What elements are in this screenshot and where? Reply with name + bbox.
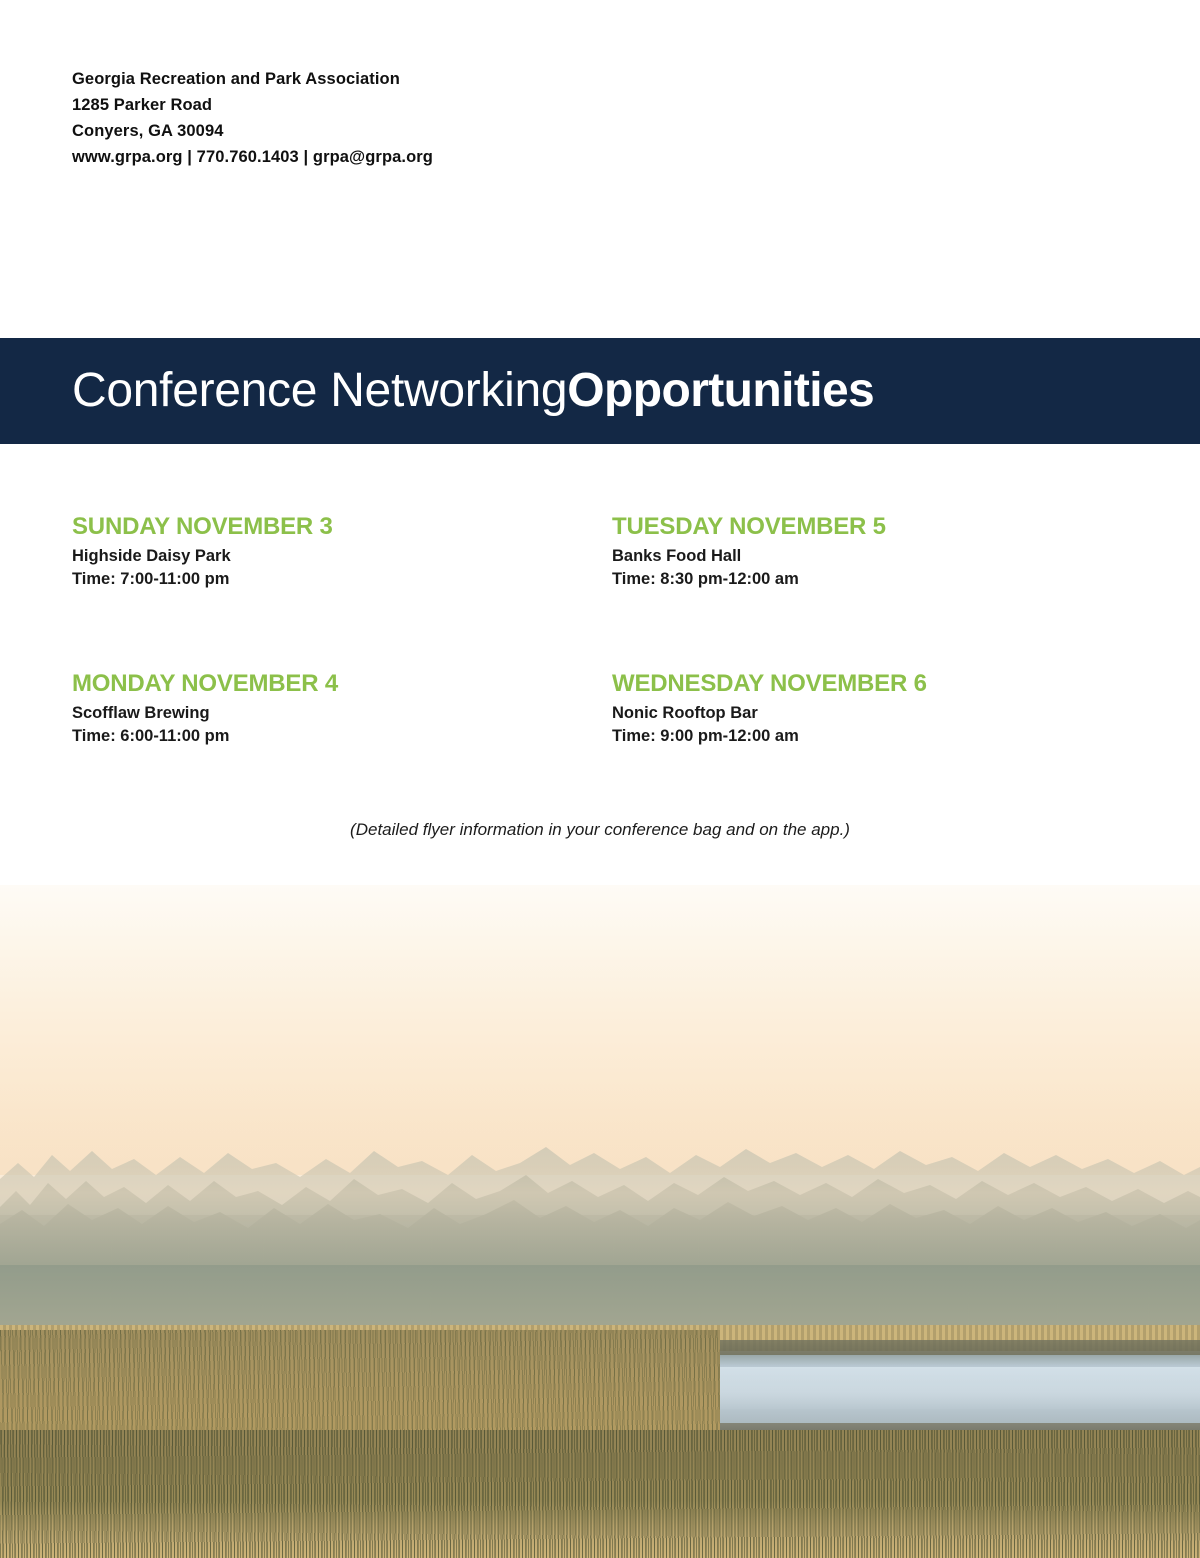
marsh-grass-foreground <box>0 1430 1200 1558</box>
event-venue: Nonic Rooftop Bar <box>612 702 1112 725</box>
event-date: SUNDAY NOVEMBER 3 <box>72 512 572 542</box>
event-item: MONDAY NOVEMBER 4 Scofflaw Brewing Time:… <box>72 669 572 748</box>
event-date: WEDNESDAY NOVEMBER 6 <box>612 669 1112 699</box>
event-date: MONDAY NOVEMBER 4 <box>72 669 572 699</box>
treeline-base-haze <box>0 1215 1200 1340</box>
flyer-page: Georgia Recreation and Park Association … <box>0 0 1200 1558</box>
page-title-light: Conference Networking <box>72 364 567 417</box>
event-time: Time: 9:00 pm-12:00 am <box>612 725 1112 748</box>
footnote-text: (Detailed flyer information in your conf… <box>0 820 1200 840</box>
organization-contact-block: Georgia Recreation and Park Association … <box>72 66 772 170</box>
event-time: Time: 6:00-11:00 pm <box>72 725 572 748</box>
organization-name: Georgia Recreation and Park Association <box>72 66 772 92</box>
event-venue: Scofflaw Brewing <box>72 702 572 725</box>
event-date: TUESDAY NOVEMBER 5 <box>612 512 1112 542</box>
organization-city-state-zip: Conyers, GA 30094 <box>72 118 772 144</box>
event-item: TUESDAY NOVEMBER 5 Banks Food Hall Time:… <box>612 512 1112 591</box>
event-time: Time: 8:30 pm-12:00 am <box>612 568 1112 591</box>
title-banner: Conference NetworkingOpportunities <box>0 338 1200 444</box>
event-item: SUNDAY NOVEMBER 3 Highside Daisy Park Ti… <box>72 512 572 591</box>
networking-events-grid: SUNDAY NOVEMBER 3 Highside Daisy Park Ti… <box>72 512 1132 748</box>
event-item: WEDNESDAY NOVEMBER 6 Nonic Rooftop Bar T… <box>612 669 1112 748</box>
organization-contact-line: www.grpa.org | 770.760.1403 | grpa@grpa.… <box>72 144 772 170</box>
sky-gradient <box>0 885 1200 1175</box>
event-venue: Highside Daisy Park <box>72 545 572 568</box>
marsh-landscape-photo <box>0 885 1200 1558</box>
page-title-bold: Opportunities <box>567 364 874 417</box>
page-title: Conference NetworkingOpportunities <box>72 367 874 415</box>
organization-street: 1285 Parker Road <box>72 92 772 118</box>
event-time: Time: 7:00-11:00 pm <box>72 568 572 591</box>
event-venue: Banks Food Hall <box>612 545 1112 568</box>
